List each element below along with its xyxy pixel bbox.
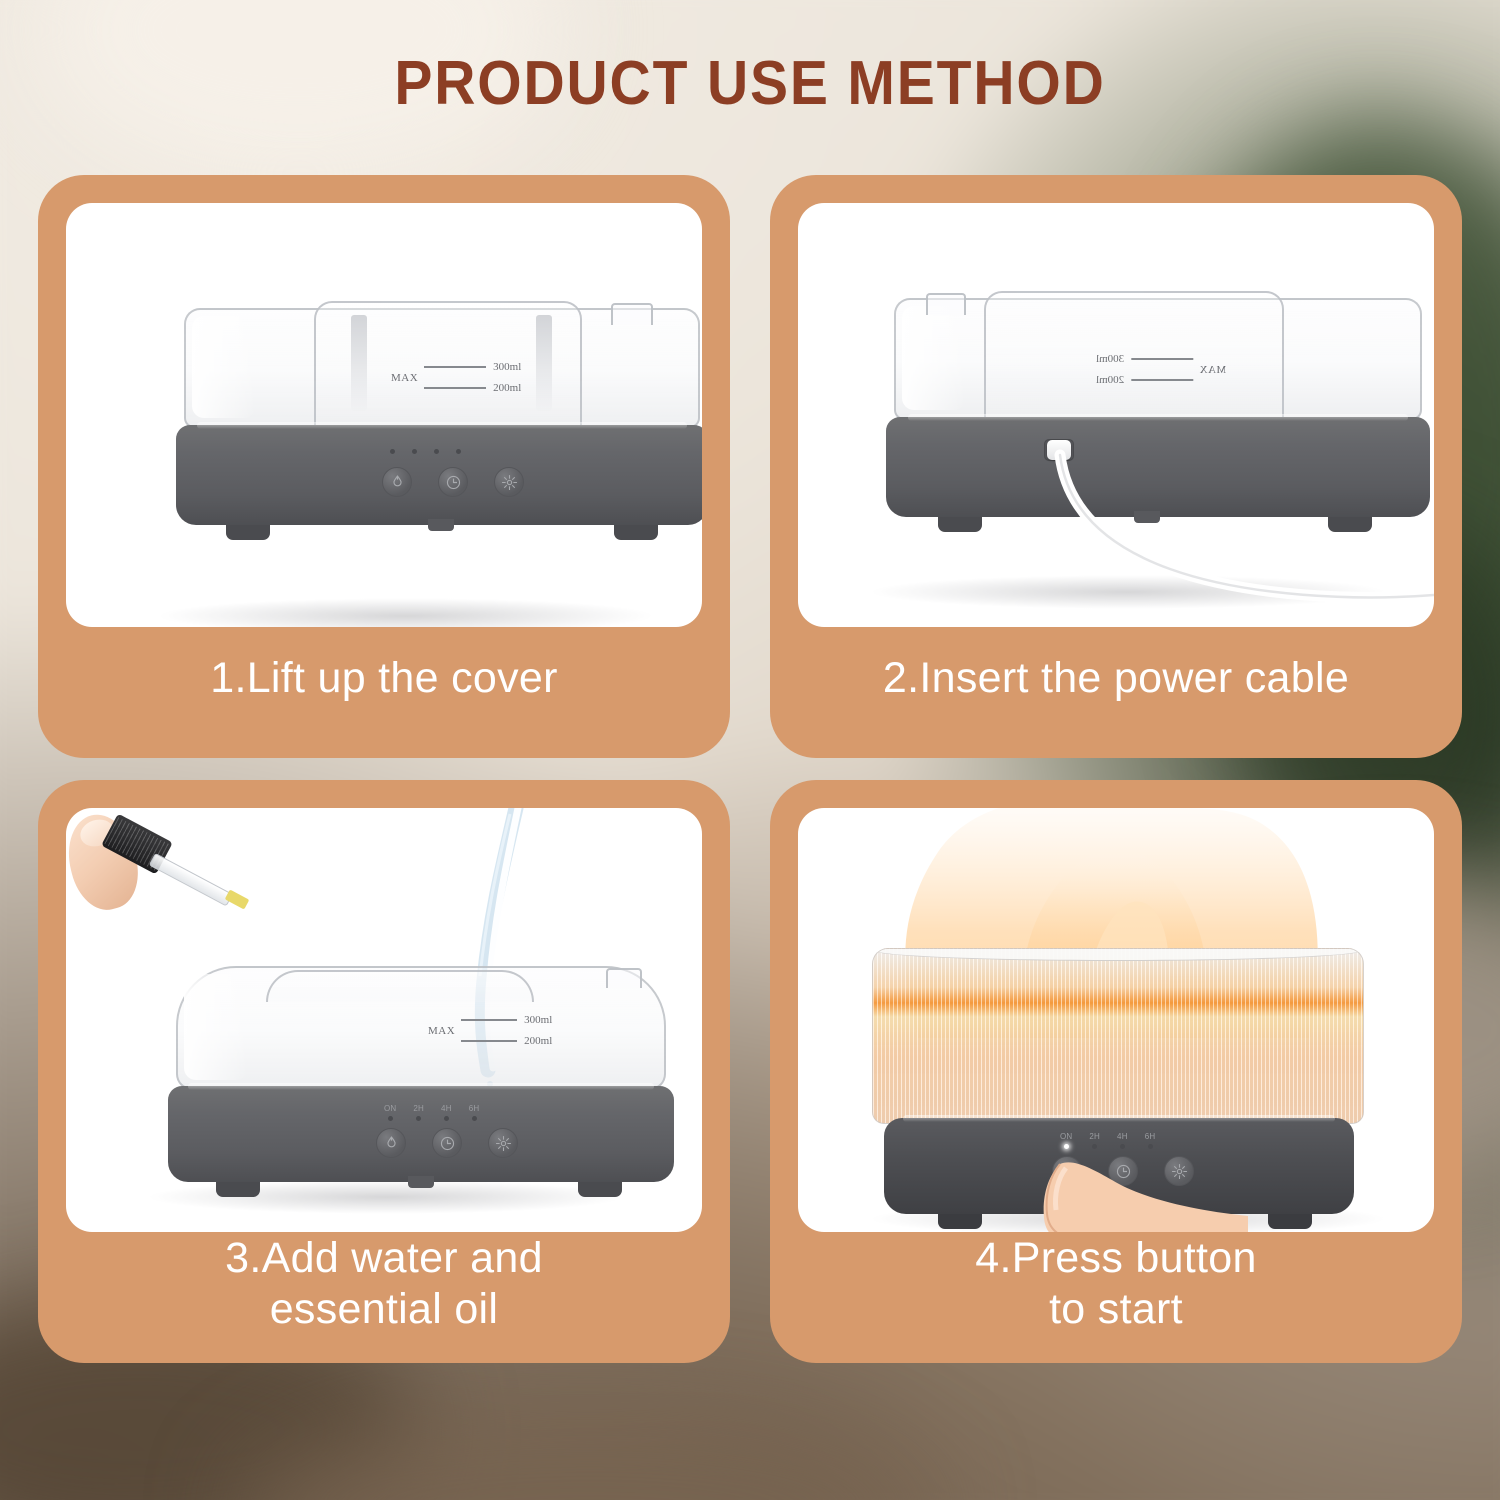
gradation-rule (1131, 379, 1193, 381)
led-dot (416, 1116, 421, 1121)
gradation-row-300: 300ml (1096, 353, 1193, 365)
light-button[interactable] (1164, 1156, 1194, 1186)
gradation-rule (461, 1040, 517, 1042)
mist-nozzle (606, 968, 642, 988)
step-2-photo: MAX 300ml 200ml (798, 203, 1434, 627)
dropper-tube (149, 853, 233, 907)
led-dot (412, 449, 417, 454)
level-300-label: 300ml (1096, 353, 1124, 365)
base-foot-left (938, 517, 982, 532)
step-1-caption: 1.Lift up the cover (66, 627, 702, 730)
led-6h (456, 449, 461, 454)
level-300-label: 300ml (524, 1014, 552, 1026)
diffuser-illustration-step-3: MAX 300ml 200ml (66, 808, 702, 1232)
tank-gloss (902, 306, 966, 410)
led-indicator-row (390, 449, 461, 454)
led-dot-active (1064, 1144, 1069, 1149)
base-vent (1134, 511, 1160, 523)
max-label: MAX (391, 372, 418, 384)
light-button[interactable] (488, 1128, 518, 1158)
step-4-photo: ON 2H 4H 6H (798, 808, 1434, 1232)
control-button-row (382, 467, 524, 497)
base-vent (428, 519, 454, 531)
base-foot-left (216, 1182, 260, 1197)
cover-post-left (351, 315, 367, 411)
mist-nozzle (611, 303, 653, 325)
step-2-caption: 2.Insert the power cable (798, 627, 1434, 730)
timer-button[interactable] (1108, 1156, 1138, 1186)
led-dot (390, 449, 395, 454)
led-on (390, 449, 395, 454)
gradation-lines: 300ml 200ml (424, 361, 521, 394)
led-on: ON (384, 1104, 396, 1121)
tank-gradation: MAX 300ml 200ml (391, 361, 521, 394)
caption-line: 1.Lift up the cover (210, 653, 558, 704)
gradation-row-300: 300ml (461, 1014, 552, 1026)
caption-line: 2.Insert the power cable (883, 653, 1349, 704)
timer-button[interactable] (432, 1128, 462, 1158)
tank-rim (266, 970, 534, 1002)
level-200-label: 200ml (1096, 374, 1124, 386)
led-label: 2H (1089, 1132, 1100, 1141)
led-2h (412, 449, 417, 454)
power-droplet-icon (383, 1135, 400, 1152)
gradation-row-300: 300ml (424, 361, 521, 373)
infographic-page: PRODUCT USE METHOD M (0, 0, 1500, 1500)
level-200-label: 200ml (493, 382, 521, 394)
led-2h: 2H (413, 1104, 424, 1121)
dropper-oil-tip (225, 889, 250, 909)
led-label: 6H (1145, 1132, 1156, 1141)
power-mist-button[interactable] (1052, 1156, 1082, 1186)
base-foot-right (1328, 517, 1372, 532)
diffuser-base (886, 417, 1430, 517)
led-dot (444, 1116, 449, 1121)
tank-gloss (184, 974, 248, 1080)
led-dot (472, 1116, 477, 1121)
base-foot-right (614, 525, 658, 540)
max-label: MAX (428, 1025, 455, 1037)
steps-grid: MAX 300ml 200ml (38, 175, 1462, 1363)
sun-burst-icon (1171, 1163, 1188, 1180)
timer-button[interactable] (438, 467, 468, 497)
step-3-caption: 3.Add water and essential oil (66, 1232, 702, 1335)
led-indicator-row: ON 2H 4H 6H (384, 1104, 479, 1121)
led-dot (1120, 1144, 1125, 1149)
led-label: 4H (1117, 1132, 1128, 1141)
power-mist-button[interactable] (382, 467, 412, 497)
led-label: ON (384, 1104, 396, 1113)
page-title: PRODUCT USE METHOD (60, 48, 1440, 119)
power-droplet-icon (389, 474, 406, 491)
step-card-2[interactable]: MAX 300ml 200ml (770, 175, 1462, 758)
led-dot (388, 1116, 393, 1121)
led-label: 4H (441, 1104, 452, 1113)
max-label: MAX (1199, 364, 1226, 376)
light-button[interactable] (494, 467, 524, 497)
gradation-rule (424, 387, 486, 389)
led-2h: 2H (1089, 1132, 1100, 1149)
led-label: ON (1060, 1132, 1072, 1141)
caption-line: essential oil (225, 1284, 543, 1335)
led-dot (1148, 1144, 1153, 1149)
gradation-rule (1131, 358, 1193, 360)
cover-top-rim (872, 948, 1364, 961)
gradation-lines: 300ml 200ml (461, 1014, 552, 1047)
step-card-4[interactable]: ON 2H 4H 6H (770, 780, 1462, 1363)
control-button-row (1052, 1156, 1194, 1186)
drop-shadow (868, 575, 1388, 609)
base-foot-left (226, 525, 270, 540)
gradation-rule (424, 366, 486, 368)
base-foot-left (938, 1214, 982, 1229)
drop-shadow (156, 598, 656, 627)
step-1-photo: MAX 300ml 200ml (66, 203, 702, 627)
sun-burst-icon (495, 1135, 512, 1152)
sun-burst-icon (501, 474, 518, 491)
base-vent (408, 1176, 434, 1188)
led-6h: 6H (469, 1104, 480, 1121)
power-plug[interactable] (1047, 440, 1071, 460)
led-label: 6H (469, 1104, 480, 1113)
caption-line: to start (975, 1284, 1256, 1335)
gradation-row-200: 200ml (1096, 374, 1193, 386)
clock-icon (445, 474, 462, 491)
tank-gradation: MAX 300ml 200ml (428, 1014, 552, 1047)
led-dot (434, 449, 439, 454)
step-card-1[interactable]: MAX 300ml 200ml (38, 175, 730, 758)
led-on: ON (1060, 1132, 1072, 1149)
led-4h: 4H (441, 1104, 452, 1121)
level-300-label: 300ml (493, 361, 521, 373)
led-dot (456, 449, 461, 454)
clock-icon (1115, 1163, 1132, 1180)
power-mist-button[interactable] (376, 1128, 406, 1158)
cover-post-right (536, 315, 552, 411)
diffuser-illustration-step-1: MAX 300ml 200ml (66, 203, 702, 627)
base-foot-right (1268, 1214, 1312, 1229)
step-4-caption: 4.Press button to start (798, 1232, 1434, 1335)
led-4h: 4H (1117, 1132, 1128, 1149)
led-indicator-row: ON 2H 4H 6H (1060, 1132, 1155, 1149)
step-3-photo: MAX 300ml 200ml (66, 808, 702, 1232)
gradation-rule (461, 1019, 517, 1021)
tank-gloss (192, 316, 256, 418)
gradation-row-200: 200ml (461, 1035, 552, 1047)
diffuser-illustration-step-4: ON 2H 4H 6H (798, 808, 1434, 1232)
flame-effect-cover (872, 948, 1364, 1124)
control-button-row (376, 1128, 518, 1158)
power-droplet-icon (1059, 1163, 1076, 1180)
gradation-row-200: 200ml (424, 382, 521, 394)
diffuser-illustration-step-2: MAX 300ml 200ml (798, 203, 1434, 627)
base-vent (1124, 1208, 1150, 1220)
clock-icon (439, 1135, 456, 1152)
step-card-3[interactable]: MAX 300ml 200ml (38, 780, 730, 1363)
mist-nozzle (926, 293, 966, 315)
led-4h (434, 449, 439, 454)
gradation-lines: 300ml 200ml (1096, 353, 1193, 386)
level-200-label: 200ml (524, 1035, 552, 1047)
tank-gradation: MAX 300ml 200ml (1096, 353, 1226, 386)
caption-line: 4.Press button (975, 1233, 1256, 1284)
led-label: 2H (413, 1104, 424, 1113)
led-dot (1092, 1144, 1097, 1149)
base-foot-right (578, 1182, 622, 1197)
caption-line: 3.Add water and (225, 1233, 543, 1284)
led-6h: 6H (1145, 1132, 1156, 1149)
